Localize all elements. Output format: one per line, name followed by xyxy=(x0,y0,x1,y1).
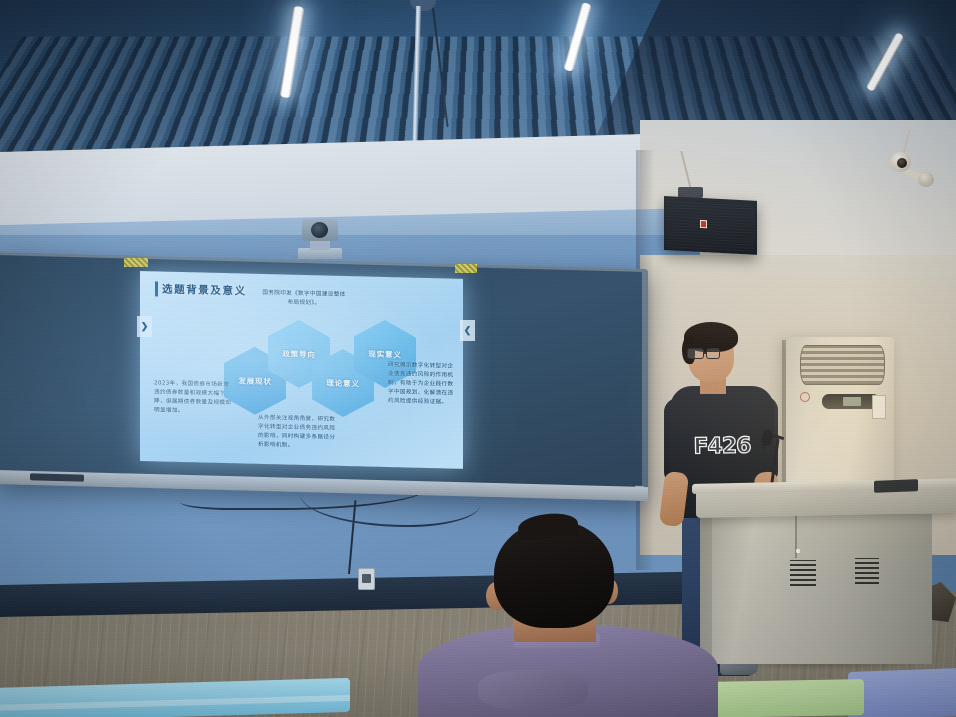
presenter-glasses-bridge xyxy=(703,352,707,354)
tshirt-print-text: F426 xyxy=(688,433,756,458)
student-desk xyxy=(848,668,956,717)
classroom-photo: 选题背景及意义 国务院印发《数字中国建设整体布局规划》。 发展现状 政策导向 理… xyxy=(0,0,956,717)
student-shirt-fold xyxy=(478,670,588,710)
slide-text-policy-note: 国务院印发《数字中国建设整体布局规划》。 xyxy=(262,289,346,309)
hexagon-label: 理论意义 xyxy=(326,377,360,389)
speaker-grille xyxy=(667,199,754,252)
wall-speaker xyxy=(664,196,757,255)
security-camera-icon xyxy=(918,172,934,187)
slide-text-theoretical-significance: 从外部关注视角角度，研究数字化转型对企业债务违约风险的影响，同时构建多条路径分析… xyxy=(258,414,340,452)
air-conditioner-vent-grille xyxy=(800,345,885,385)
air-conditioner-label-sticker xyxy=(872,395,886,419)
slide-next-button[interactable]: ❯ xyxy=(137,316,152,337)
lectern-vent-grille xyxy=(855,558,879,584)
presenter-glasses xyxy=(687,348,704,359)
slide-text-development-status: 2023年，我国债券市场新增违约债券数量和规模大幅下降，但展期债券数量及规模却明… xyxy=(154,379,234,417)
hexagon-label: 发展现状 xyxy=(238,375,272,387)
lectern-screw xyxy=(796,549,800,553)
air-conditioner-logo-icon xyxy=(800,392,810,402)
ptz-camera-lens xyxy=(311,222,328,238)
slide-prev-button[interactable]: ❮ xyxy=(460,320,475,341)
whiteboard-ir-sensor-tag xyxy=(124,258,148,267)
presentation-slide[interactable]: 选题背景及意义 国务院印发《数字中国建设整体布局规划》。 发展现状 政策导向 理… xyxy=(140,271,463,469)
hexagon-label: 政策导向 xyxy=(282,348,316,360)
slide-title: 选题背景及意义 xyxy=(162,282,247,299)
whiteboard-speaker-grille xyxy=(30,473,84,481)
air-conditioner-display xyxy=(843,397,861,406)
lectern-body xyxy=(712,514,932,664)
hexagon-label: 现实意义 xyxy=(368,348,402,360)
security-camera-lens xyxy=(897,158,907,168)
presenter-glasses xyxy=(706,348,720,359)
seated-student xyxy=(418,520,728,717)
outlet-socket-slot xyxy=(362,574,371,583)
slide-title-accent-bar xyxy=(155,281,158,296)
lectern-vent-grille xyxy=(790,560,816,586)
speaker-brand-badge xyxy=(700,220,707,228)
lectern-device[interactable] xyxy=(874,479,918,493)
whiteboard-ir-sensor-tag xyxy=(455,264,477,273)
slide-text-practical-significance: 研究揭示数字化转型对企业债务违约风险的作用机制，有助于为企业践行数字中国规划、化… xyxy=(388,361,454,408)
